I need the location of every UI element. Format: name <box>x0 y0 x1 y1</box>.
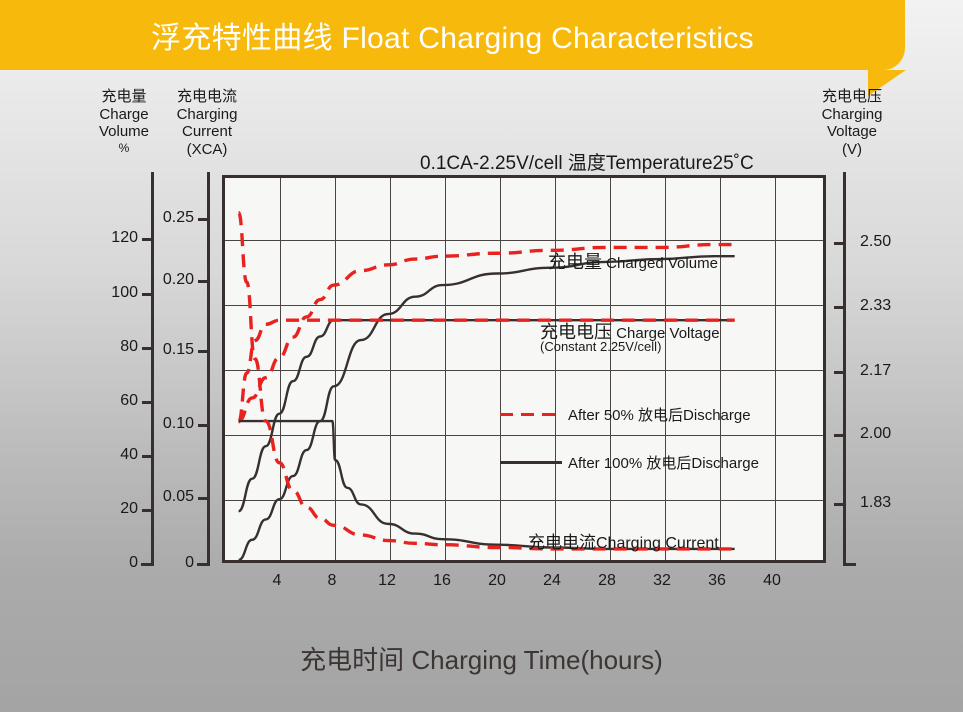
ticklabel-volume-60: 60 <box>72 392 138 410</box>
axis-foot-charging-voltage <box>843 563 856 566</box>
tick-volume-20 <box>142 509 153 512</box>
legend-swatch-after-100 <box>500 461 562 464</box>
ticklabel-volume-40: 40 <box>72 446 138 464</box>
tick-volume-60 <box>142 401 153 404</box>
chart-condition-note: 0.1CA-2.25V/cell 温度Temperature25˚C <box>420 148 754 175</box>
axis-foot-charging-current <box>197 563 210 566</box>
legend-label-after-50: After 50% 放电后Discharge <box>568 404 751 425</box>
tick-voltage-233 <box>834 306 845 309</box>
tick-current-020 <box>198 280 209 283</box>
plot-area <box>222 175 826 563</box>
tick-current-005 <box>198 497 209 500</box>
ticklabel-current-0: 0 <box>128 554 194 572</box>
annotation-charging-current-en: Charging Current <box>596 535 719 552</box>
ticklabel-voltage-233: 2.33 <box>860 297 891 315</box>
ticklabel-current-005: 0.05 <box>128 488 194 506</box>
ticklabel-x-36: 36 <box>700 572 734 590</box>
axis-rail-charging-current <box>207 172 210 566</box>
ticklabel-current-025: 0.25 <box>128 209 194 227</box>
ticklabel-voltage-217: 2.17 <box>860 362 891 380</box>
ticklabel-x-40: 40 <box>755 572 789 590</box>
annotation-charged-volume: 充电量 Charged Volume <box>548 248 718 274</box>
ticklabel-voltage-200: 2.00 <box>860 425 891 443</box>
tick-volume-40 <box>142 455 153 458</box>
ticklabel-x-4: 4 <box>260 572 294 590</box>
ticklabel-current-010: 0.10 <box>128 415 194 433</box>
annotation-charged-volume-cn: 充电量 <box>548 252 602 272</box>
chart-stage: 0.1CA-2.25V/cell 温度Temperature25˚C 120 1… <box>0 0 963 712</box>
annotation-charged-volume-en: Charged Volume <box>606 255 718 272</box>
legend-swatch-after-50 <box>500 413 562 416</box>
tick-current-015 <box>198 350 209 353</box>
ticklabel-volume-120: 120 <box>72 229 138 247</box>
ticklabel-voltage-183: 1.83 <box>860 494 891 512</box>
ticklabel-x-20: 20 <box>480 572 514 590</box>
ticklabel-x-16: 16 <box>425 572 459 590</box>
legend-label-after-100: After 100% 放电后Discharge <box>568 452 759 473</box>
annotation-charging-current: 充电电流Charging Current <box>528 528 719 553</box>
tick-current-025 <box>198 218 209 221</box>
tick-volume-120 <box>142 238 153 241</box>
annotation-charging-current-cn: 充电电流 <box>528 533 596 552</box>
chart-curves <box>225 178 823 560</box>
tick-voltage-183 <box>834 503 845 506</box>
tick-volume-100 <box>142 293 153 296</box>
ticklabel-current-015: 0.15 <box>128 341 194 359</box>
tick-voltage-200 <box>834 434 845 437</box>
tick-voltage-217 <box>834 371 845 374</box>
tick-current-010 <box>198 424 209 427</box>
ticklabel-x-12: 12 <box>370 572 404 590</box>
axis-rail-charge-volume <box>151 172 154 566</box>
ticklabel-current-020: 0.20 <box>128 271 194 289</box>
ticklabel-x-32: 32 <box>645 572 679 590</box>
ticklabel-x-8: 8 <box>315 572 349 590</box>
ticklabel-x-28: 28 <box>590 572 624 590</box>
tick-voltage-250 <box>834 242 845 245</box>
ticklabel-x-24: 24 <box>535 572 569 590</box>
axis-rail-charging-voltage <box>843 172 846 566</box>
ticklabel-voltage-250: 2.50 <box>860 233 891 251</box>
x-axis-title: 充电时间 Charging Time(hours) <box>0 640 963 677</box>
annotation-charge-voltage-sub: (Constant 2.25V/cell) <box>540 339 661 354</box>
